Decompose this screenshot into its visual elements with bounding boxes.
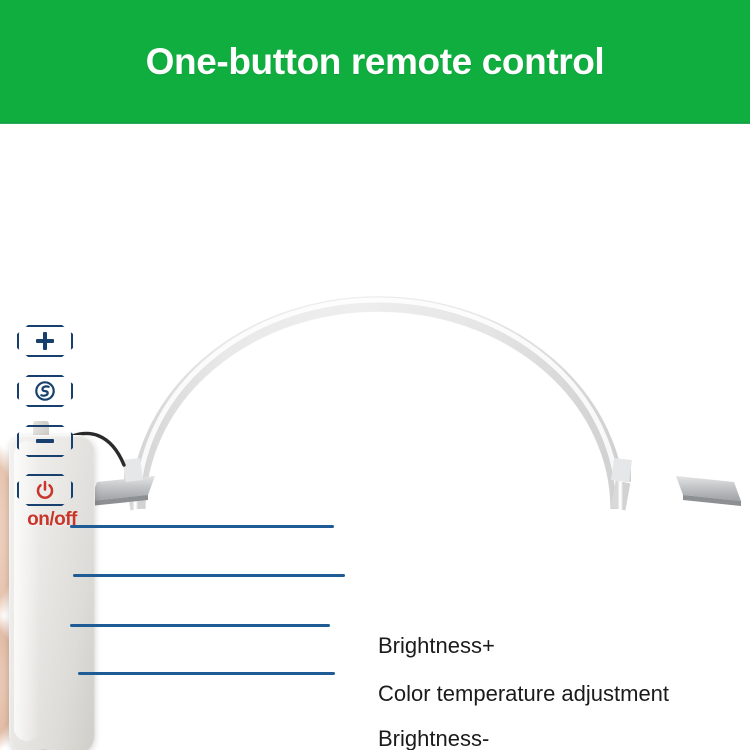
color-temperature-icon xyxy=(34,380,56,402)
page-title: One-button remote control xyxy=(0,0,750,124)
callout-label-color-temperature: Color temperature adjustment xyxy=(378,681,669,707)
callout-leader-line-power xyxy=(78,672,335,675)
brightness-down-button[interactable] xyxy=(17,425,73,457)
minus-icon xyxy=(36,432,54,450)
callout-label-brightness-up: Brightness+ xyxy=(378,633,495,659)
header-banner: One-button remote control xyxy=(0,0,750,124)
product-photo-stage: on/off Brightness+ Color temperature adj… xyxy=(0,124,750,750)
plus-icon xyxy=(36,332,54,350)
power-button[interactable] xyxy=(17,474,73,506)
callout-leader-line-brightness-up xyxy=(70,525,334,528)
callout-leader-line-color-temperature xyxy=(73,574,345,577)
product-feature-image: One-button remote control xyxy=(0,0,750,750)
callout-leader-line-brightness-down xyxy=(70,624,330,627)
callout-label-brightness-down: Brightness- xyxy=(378,726,489,750)
color-temperature-button[interactable] xyxy=(17,375,73,407)
lamp-arc-tube xyxy=(138,304,618,509)
brightness-up-button[interactable] xyxy=(17,325,73,357)
arc-lamp-illustration xyxy=(0,124,750,750)
power-icon xyxy=(35,480,55,500)
